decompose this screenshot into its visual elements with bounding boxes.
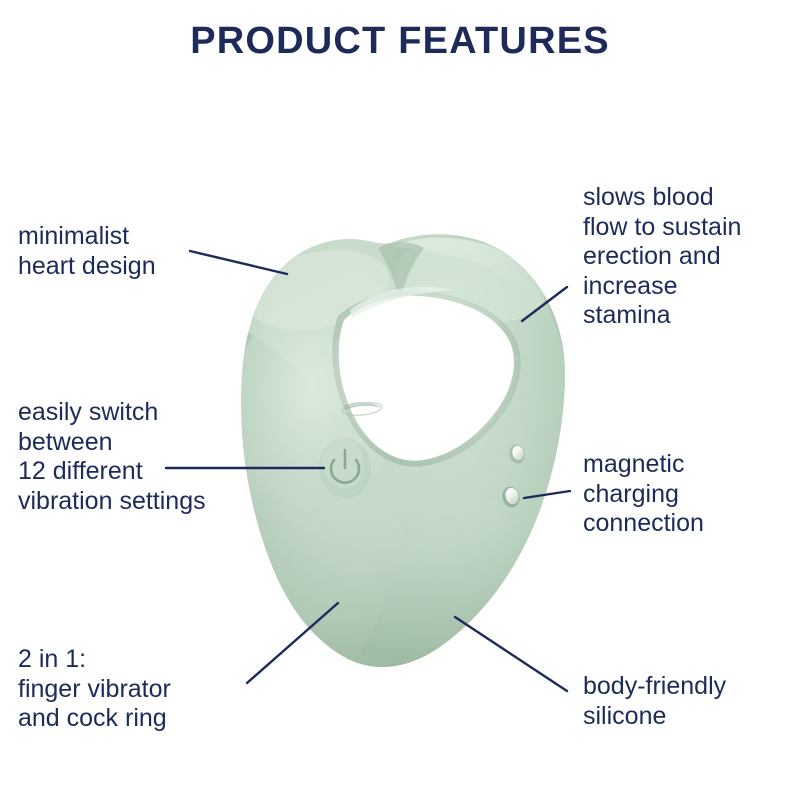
product-features-infographic: PRODUCT FEATURES <box>0 0 800 800</box>
feature-label-2-in-1-finger-vibrator-cock-ring: 2 in 1: finger vibrator and cock ring <box>18 645 171 734</box>
feature-label-minimalist-heart-design: minimalist heart design <box>18 222 156 281</box>
feature-label-body-friendly-silicone: body-friendly silicone <box>583 672 726 731</box>
bottom-shading <box>250 500 570 690</box>
feature-label-easily-switch-vibration: easily switch between 12 different vibra… <box>18 398 206 516</box>
feature-label-magnetic-charging-connection: magnetic charging connection <box>583 450 704 539</box>
feature-label-slows-blood-flow: slows blood flow to sustain erection and… <box>583 183 741 331</box>
